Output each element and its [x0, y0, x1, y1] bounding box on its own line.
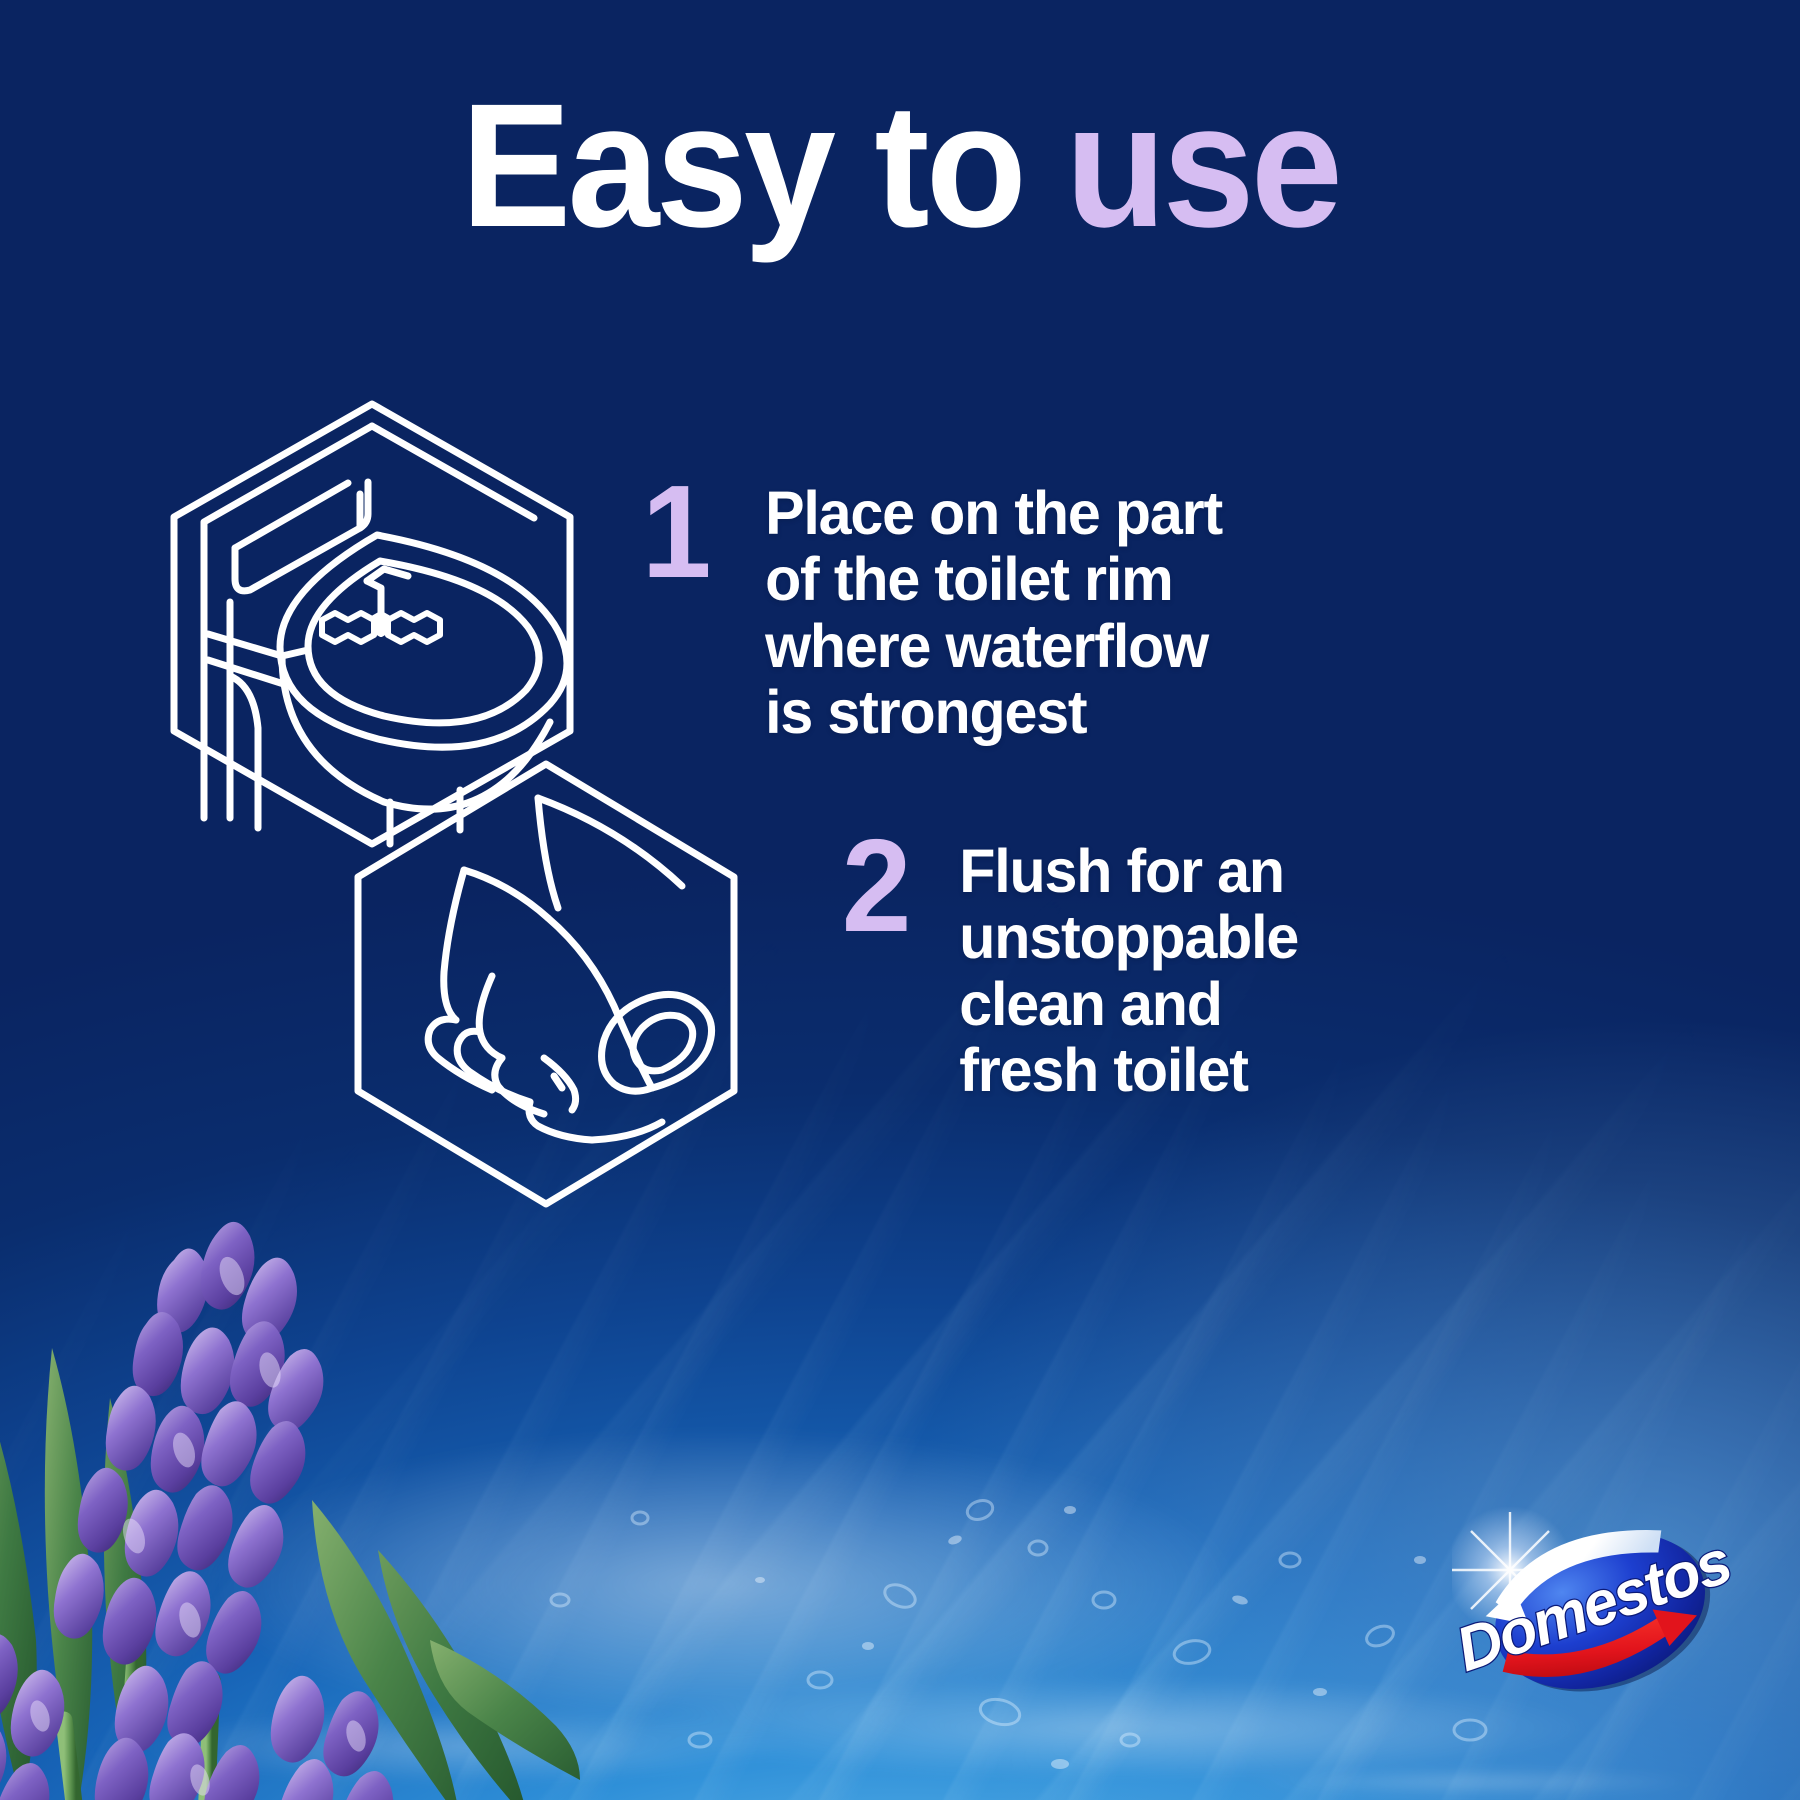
step-number-1: 1	[642, 470, 709, 594]
domestos-logo[interactable]: Domestos	[1452, 1486, 1752, 1736]
step-item-1: 1 Place on the part of the toilet rim wh…	[640, 470, 1400, 746]
step-text-2: Flush for an unstoppable clean and fresh…	[960, 824, 1299, 1104]
lavender-flowers	[0, 1080, 580, 1800]
step-1-line-3: where waterflow	[765, 613, 1222, 679]
step-2-line-3: clean and	[960, 971, 1299, 1037]
title-text-accent: use	[1065, 68, 1339, 264]
step-2-line-2: unstoppable	[960, 904, 1299, 970]
step-1-line-1: Place on the part	[765, 480, 1222, 546]
step-number-2: 2	[842, 824, 909, 948]
step-item-2: 2 Flush for an unstoppable clean and fre…	[840, 824, 1400, 1104]
instruction-steps: 1 Place on the part of the toilet rim wh…	[640, 470, 1400, 1104]
advertisement-canvas: Easy to use	[0, 0, 1800, 1800]
step-text-1: Place on the part of the toilet rim wher…	[765, 470, 1222, 746]
step-1-line-4: is strongest	[765, 679, 1222, 745]
step-2-line-4: fresh toilet	[960, 1037, 1299, 1103]
title-text-primary: Easy to	[461, 68, 1065, 264]
step-1-line-2: of the toilet rim	[765, 546, 1222, 612]
step-2-line-1: Flush for an	[960, 838, 1299, 904]
page-title: Easy to use	[54, 78, 1746, 254]
